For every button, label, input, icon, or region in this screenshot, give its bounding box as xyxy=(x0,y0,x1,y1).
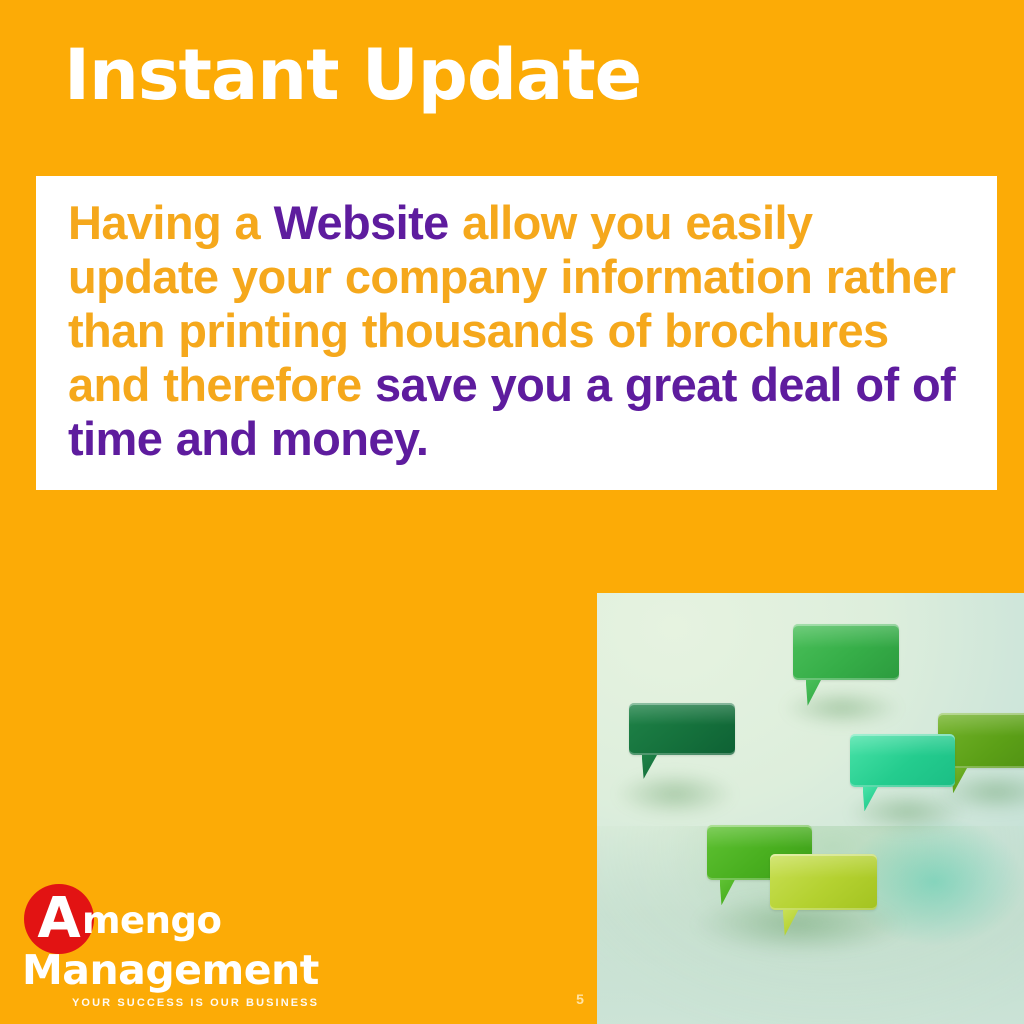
bubble-sheen xyxy=(938,713,1024,736)
content-card: Having a Website allow you easily update… xyxy=(36,176,997,490)
bubble-shadow xyxy=(615,771,735,817)
speech-bubble-teal xyxy=(850,734,955,787)
speech-bubble-dark-green xyxy=(629,703,735,755)
bubble-sheen xyxy=(629,703,735,725)
bubble-sheen xyxy=(793,624,899,648)
body-text-part-2: allow you easily xyxy=(449,196,813,249)
bubble-sheen xyxy=(707,825,812,848)
logo-name-bottom: Management xyxy=(22,950,319,991)
bubble-shadow xyxy=(783,689,901,727)
bubble-sheen xyxy=(770,854,877,878)
speech-bubble-green-top xyxy=(793,624,899,680)
page-number: 5 xyxy=(572,991,588,1007)
logo-name-top: mengo xyxy=(82,902,221,939)
body-text-part-1: Having a xyxy=(68,196,274,249)
body-text-highlight-website: Website xyxy=(274,196,449,249)
speech-bubbles-image xyxy=(597,593,1024,1024)
logo-tagline: YOUR SUCCESS IS OUR BUSINESS xyxy=(72,997,319,1009)
page-title: Instant Update xyxy=(64,40,641,110)
body-text-highlight-save-you: save you xyxy=(375,358,572,411)
company-logo: A mengo Management YOUR SUCCESS IS OUR B… xyxy=(20,884,320,1014)
slide-canvas: Instant Update Having a Website allow yo… xyxy=(0,0,1024,1024)
speech-bubble-lime xyxy=(770,854,877,910)
body-paragraph: Having a Website allow you easily update… xyxy=(68,196,968,466)
bubble-sheen xyxy=(850,734,955,756)
body-text-line-2: update your company information xyxy=(68,250,812,303)
